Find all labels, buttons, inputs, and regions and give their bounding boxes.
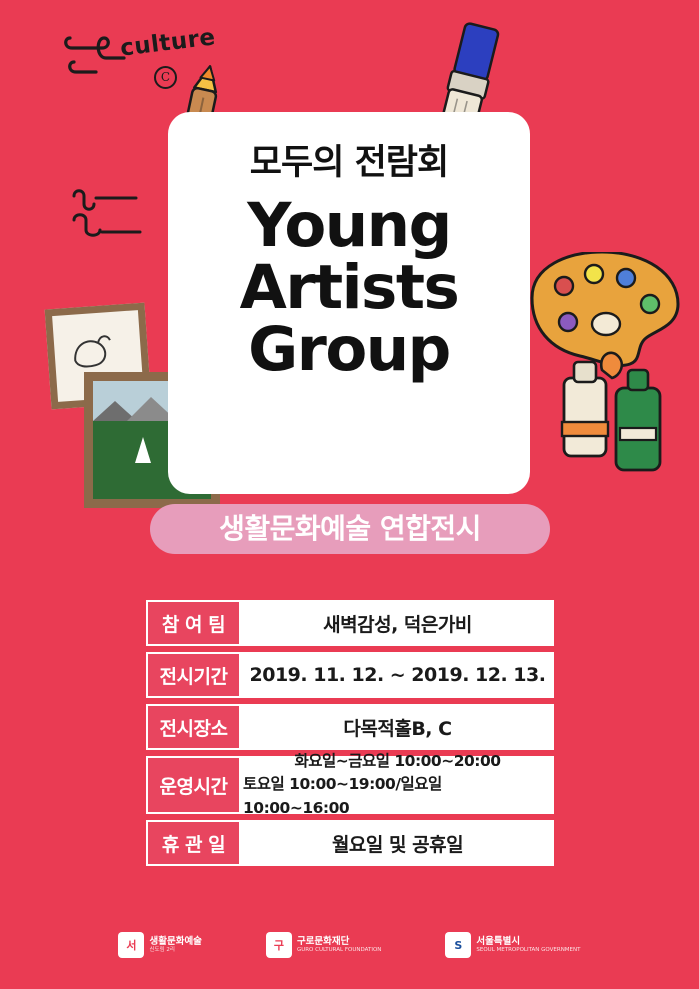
seoul-logo-sub: SEOUL METROPOLITAN GOVERNMENT <box>476 947 580 954</box>
guro-logo-sub: GURO CULTURAL FOUNDATION <box>297 947 381 954</box>
table-row: 참 여 팀 새벽감성, 덕은가비 <box>146 600 554 646</box>
sindorim-logo-sub: 신도림 2리 <box>149 947 201 954</box>
table-row: 휴 관 일 월요일 및 공휴일 <box>146 820 554 866</box>
title-card: 모두의 전람회 Young Artists Group <box>168 112 530 494</box>
palette-icon <box>528 252 678 382</box>
guro-logo-text: 구로문화재단 GURO CULTURAL FOUNDATION <box>297 936 381 954</box>
info-label: 휴 관 일 <box>146 820 241 866</box>
logo-seoul: S 서울특별시 SEOUL METROPOLITAN GOVERNMENT <box>445 932 580 958</box>
seoul-logo-name: 서울특별시 <box>476 936 520 947</box>
card-english-line-3: Group <box>168 319 530 381</box>
guro-logo-name: 구로문화재단 <box>297 936 349 947</box>
card-english-line-1: Young <box>168 195 530 257</box>
info-value-line: 화요일~금요일 10:00~20:00 <box>294 750 500 773</box>
card-korean-title: 모두의 전람회 <box>168 134 530 185</box>
culture-c-icon: C <box>154 66 177 89</box>
info-label: 전시기간 <box>146 652 241 698</box>
seoul-logo-text: 서울특별시 SEOUL METROPOLITAN GOVERNMENT <box>476 936 580 954</box>
info-label: 운영시간 <box>146 756 241 814</box>
sindorim-logo-icon: 서 <box>118 932 144 958</box>
logo-sindorim: 서 생활문화예술 신도림 2리 <box>118 932 201 958</box>
seoul-logo-icon: S <box>445 932 471 958</box>
info-value: 화요일~금요일 10:00~20:00 토요일 10:00~19:00/일요일 … <box>241 756 554 814</box>
logo-guro-foundation: 구 구로문화재단 GURO CULTURAL FOUNDATION <box>266 932 381 958</box>
info-value: 2019. 11. 12. ~ 2019. 12. 13. <box>241 652 554 698</box>
info-value: 새벽감성, 덕은가비 <box>241 600 554 646</box>
table-row: 전시장소 다목적홀B, C <box>146 704 554 750</box>
table-row: 운영시간 화요일~금요일 10:00~20:00 토요일 10:00~19:00… <box>146 756 554 814</box>
sindorim-logo-name: 생활문화예술 <box>149 936 201 947</box>
subtitle-pill: 생활문화예술 연합전시 <box>150 504 550 554</box>
card-english-title: Young Artists Group <box>168 195 530 382</box>
info-value: 월요일 및 공휴일 <box>241 820 554 866</box>
info-table: 참 여 팀 새벽감성, 덕은가비 전시기간 2019. 11. 12. ~ 20… <box>146 600 554 872</box>
info-label: 전시장소 <box>146 704 241 750</box>
info-label: 참 여 팀 <box>146 600 241 646</box>
swirl-decoration-icon <box>70 186 148 246</box>
info-value: 다목적홀B, C <box>241 704 554 750</box>
info-value-line: 토요일 10:00~19:00/일요일 10:00~16:00 <box>243 773 552 820</box>
guro-logo-icon: 구 <box>266 932 292 958</box>
sindorim-logo-text: 생활문화예술 신도림 2리 <box>149 936 201 954</box>
footer-logos: 서 생활문화예술 신도림 2리 구 구로문화재단 GURO CULTURAL F… <box>0 932 699 958</box>
poster-canvas: culture C <box>0 0 699 989</box>
table-row: 전시기간 2019. 11. 12. ~ 2019. 12. 13. <box>146 652 554 698</box>
card-english-line-2: Artists <box>168 257 530 319</box>
